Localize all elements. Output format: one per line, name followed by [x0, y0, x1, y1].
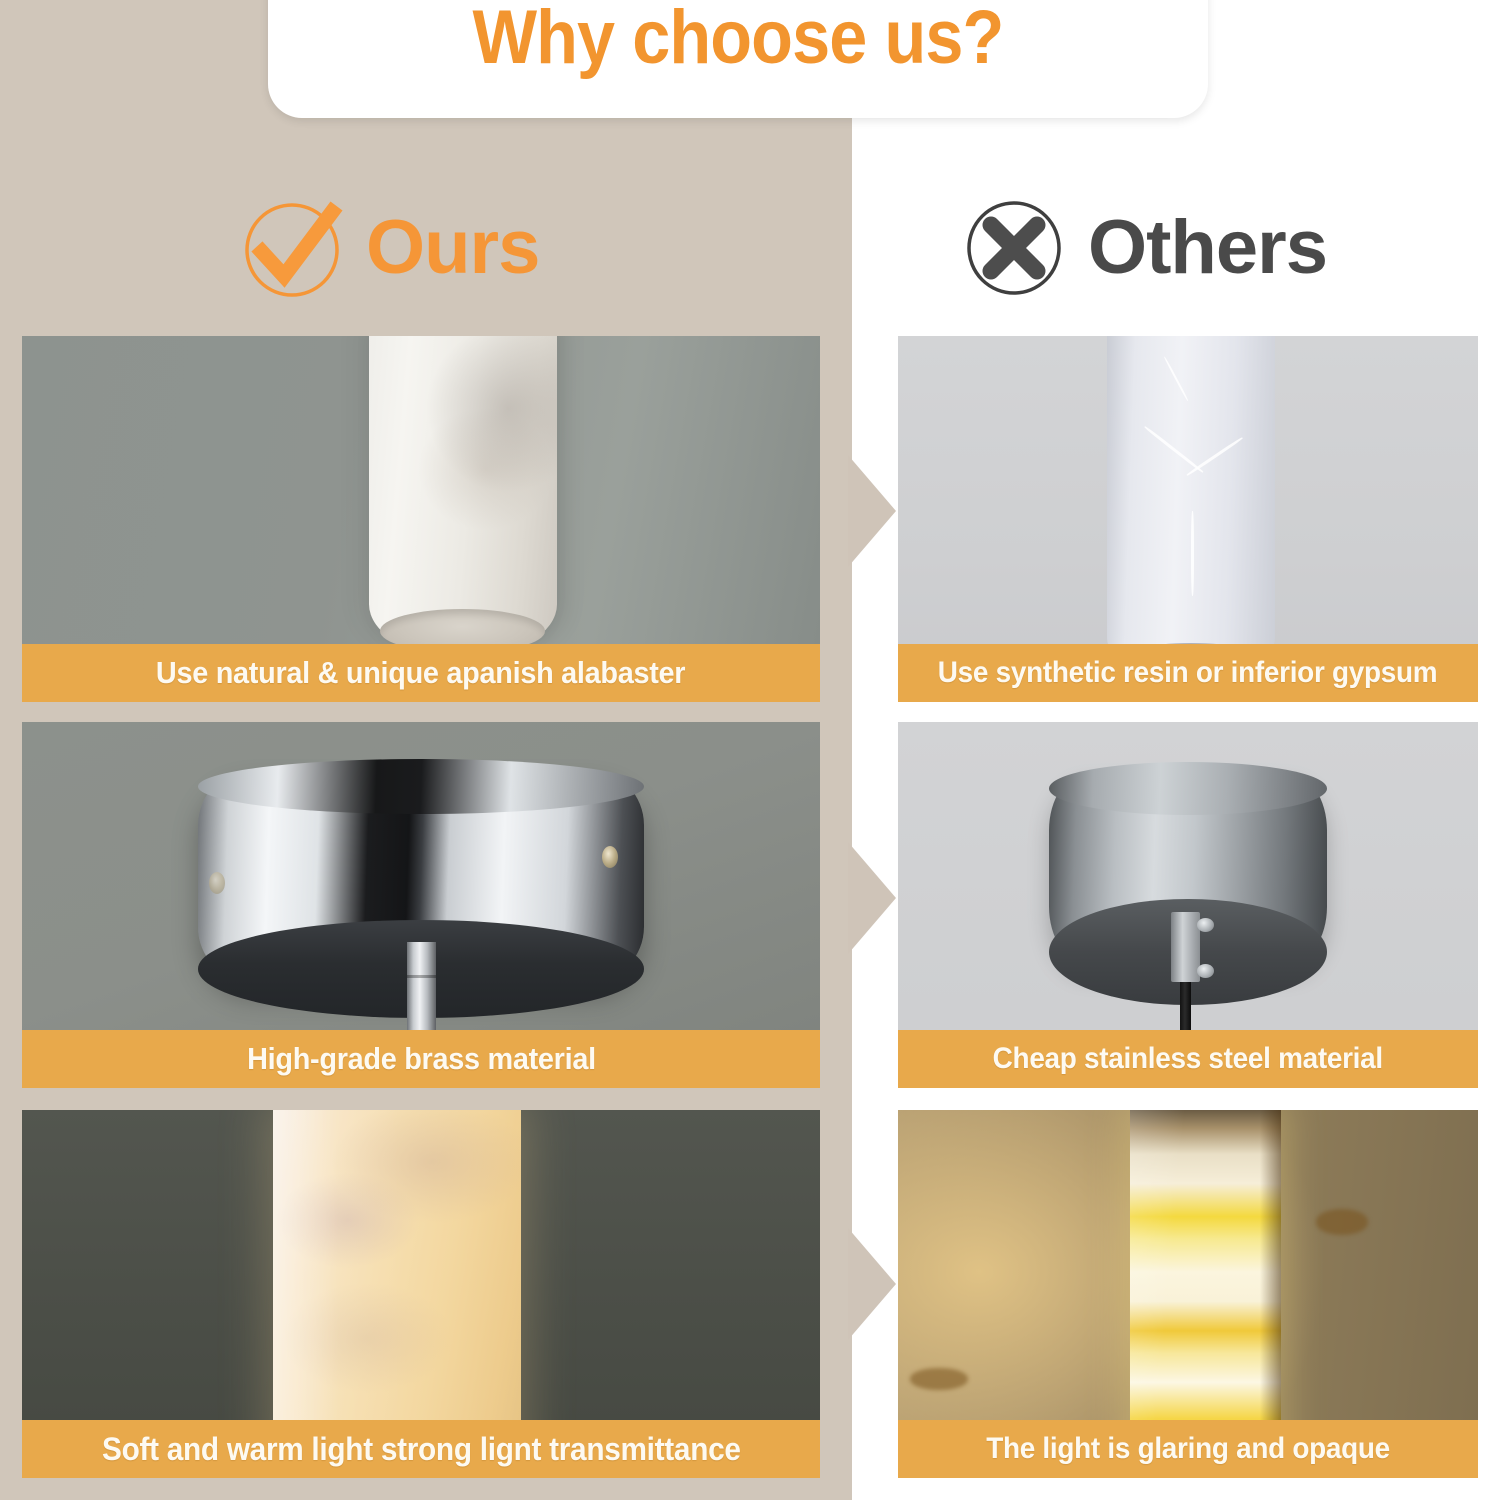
ours-label: Ours: [366, 210, 539, 286]
others-caption-row-3: The light is glaring and opaque: [898, 1420, 1478, 1478]
right-arrow-icon-row-3: [848, 1228, 896, 1340]
caption-text: Use synthetic resin or inferior gypsum: [938, 656, 1437, 690]
page-title: Why choose us?: [473, 0, 1004, 118]
caption-text: High-grade brass material: [247, 1041, 596, 1077]
others-cell-row-3: The light is glaring and opaque: [898, 1110, 1478, 1478]
right-arrow-icon-row-1: [848, 455, 896, 567]
caption-text: The light is glaring and opaque: [986, 1432, 1390, 1466]
right-arrow-icon-row-2: [848, 842, 896, 954]
others-caption-row-2: Cheap stainless steel material: [898, 1030, 1478, 1088]
others-cell-row-1: Use synthetic resin or inferior gypsum: [898, 336, 1478, 702]
caption-text: Use natural & unique apanish alabaster: [156, 655, 685, 691]
caption-text: Cheap stainless steel material: [993, 1042, 1383, 1076]
caption-text: Soft and warm light strong lignt transmi…: [102, 1431, 741, 1468]
header-card: Why choose us?: [268, 0, 1208, 118]
others-label: Others: [1088, 210, 1327, 286]
comparison-infographic: Why choose us? Ours Others Use natural &…: [0, 0, 1492, 1500]
x-circle-icon: [962, 196, 1066, 300]
ours-caption-row-3: Soft and warm light strong lignt transmi…: [22, 1420, 820, 1478]
ours-caption-row-2: High-grade brass material: [22, 1030, 820, 1088]
others-heading: Others: [962, 196, 1327, 300]
ours-cell-row-1: Use natural & unique apanish alabaster: [22, 336, 820, 702]
others-cell-row-2: Cheap stainless steel material: [898, 722, 1478, 1088]
check-circle-icon: [240, 196, 344, 300]
ours-cell-row-2: High-grade brass material: [22, 722, 820, 1088]
ours-cell-row-3: Soft and warm light strong lignt transmi…: [22, 1110, 820, 1478]
others-caption-row-1: Use synthetic resin or inferior gypsum: [898, 644, 1478, 702]
ours-caption-row-1: Use natural & unique apanish alabaster: [22, 644, 820, 702]
ours-heading: Ours: [240, 196, 539, 300]
